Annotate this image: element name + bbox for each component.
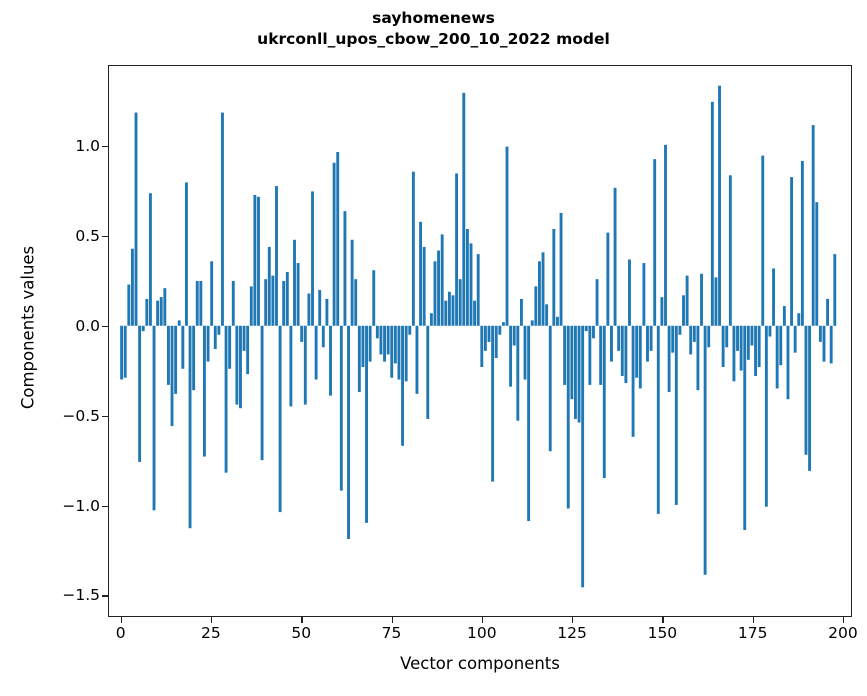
bar	[232, 281, 235, 326]
bar	[743, 326, 746, 530]
plot-area	[108, 65, 852, 617]
bar	[434, 261, 437, 325]
bar	[556, 317, 559, 326]
bar	[261, 326, 264, 460]
bar	[264, 279, 267, 326]
bar	[769, 326, 772, 337]
bar	[455, 173, 458, 325]
bar	[307, 294, 310, 326]
x-tick-mark	[572, 617, 573, 623]
bar	[459, 279, 462, 326]
bar	[477, 254, 480, 326]
x-tick-label: 25	[171, 624, 251, 642]
bar	[578, 326, 581, 423]
bar	[754, 326, 757, 376]
bar	[448, 292, 451, 326]
bar	[599, 326, 602, 385]
x-tick-mark	[753, 617, 754, 623]
bar	[153, 326, 156, 511]
bar-series	[109, 66, 851, 616]
bar	[214, 326, 217, 349]
bar	[419, 222, 422, 326]
bar	[653, 159, 656, 326]
bar	[466, 229, 469, 326]
bar	[210, 261, 213, 325]
bar	[823, 326, 826, 362]
bar	[163, 288, 166, 326]
bar	[470, 243, 473, 325]
bar	[135, 113, 138, 326]
bar	[574, 326, 577, 419]
bar	[502, 322, 505, 326]
x-tick-mark	[121, 617, 122, 623]
bar	[664, 145, 667, 326]
bar	[805, 326, 808, 455]
bar	[286, 272, 289, 326]
y-tick-mark	[102, 326, 108, 327]
bar	[480, 326, 483, 367]
bar	[642, 263, 645, 326]
bar	[171, 326, 174, 426]
bar	[246, 326, 249, 374]
y-tick-mark	[102, 506, 108, 507]
bar	[495, 326, 498, 358]
bar	[358, 326, 361, 392]
bar	[498, 326, 501, 335]
bar	[361, 326, 364, 367]
bar	[772, 268, 775, 325]
bar	[441, 234, 444, 325]
bar	[380, 326, 383, 355]
bar	[444, 301, 447, 326]
x-tick-mark	[843, 617, 844, 623]
bar	[473, 301, 476, 326]
bar	[189, 326, 192, 528]
y-tick-label: 0.0	[34, 317, 100, 335]
bar	[542, 252, 545, 325]
bar	[696, 326, 699, 390]
bar	[282, 281, 285, 326]
bar	[725, 326, 728, 348]
bar	[722, 326, 725, 367]
bar	[315, 326, 318, 380]
x-tick-mark	[392, 617, 393, 623]
bar	[311, 191, 314, 325]
bar	[174, 326, 177, 394]
bar	[333, 163, 336, 326]
bar	[779, 326, 782, 365]
bar	[711, 102, 714, 326]
bar	[610, 326, 613, 362]
bar	[797, 313, 800, 326]
bar	[354, 279, 357, 326]
bar	[668, 326, 671, 392]
bar	[830, 326, 833, 364]
bar	[621, 326, 624, 376]
bar	[812, 125, 815, 326]
bar	[387, 326, 390, 355]
y-tick-label: 1.0	[34, 137, 100, 155]
bar	[815, 202, 818, 326]
bar	[747, 326, 750, 360]
bar	[217, 326, 220, 335]
bar	[293, 240, 296, 326]
bar	[329, 326, 332, 396]
bar	[318, 290, 321, 326]
bar	[408, 326, 411, 335]
bar	[646, 326, 649, 362]
bar	[686, 276, 689, 326]
bar	[790, 177, 793, 326]
bar	[322, 326, 325, 348]
bar	[736, 326, 739, 351]
bar	[127, 285, 130, 326]
bar	[675, 326, 678, 505]
y-tick-label: −0.5	[34, 407, 100, 425]
bar	[297, 263, 300, 326]
bar	[253, 195, 256, 326]
bar	[401, 326, 404, 446]
bar	[430, 313, 433, 326]
bar	[794, 326, 797, 353]
bar	[365, 326, 368, 523]
chart-title: sayhomenews ukrconll_upos_cbow_200_10_20…	[0, 8, 867, 50]
bar	[833, 254, 836, 326]
bar	[506, 147, 509, 326]
bar	[801, 161, 804, 326]
y-tick-label: 0.5	[34, 227, 100, 245]
bar	[416, 326, 419, 394]
bar	[185, 182, 188, 325]
bar	[531, 320, 534, 325]
bar	[678, 326, 681, 335]
bar	[491, 326, 494, 482]
bar	[765, 326, 768, 507]
bar	[520, 299, 523, 326]
bar	[138, 326, 141, 462]
bar	[279, 326, 282, 512]
bar	[581, 326, 584, 588]
y-tick-label: −1.5	[34, 586, 100, 604]
bar	[221, 113, 224, 326]
x-tick-mark	[482, 617, 483, 623]
bar	[787, 326, 790, 399]
bar	[758, 326, 761, 367]
chart-title-line-2: ukrconll_upos_cbow_200_10_2022 model	[0, 29, 867, 50]
bar	[369, 326, 372, 362]
bar	[563, 326, 566, 385]
figure-canvas: sayhomenews ukrconll_upos_cbow_200_10_20…	[0, 0, 867, 696]
x-tick-mark	[301, 617, 302, 623]
bar	[714, 277, 717, 325]
bar	[534, 286, 537, 325]
bar	[513, 326, 516, 346]
bar	[635, 326, 638, 378]
bar	[405, 326, 408, 382]
chart-title-line-1: sayhomenews	[0, 8, 867, 29]
bar	[488, 326, 491, 342]
bar	[693, 326, 696, 342]
bar	[383, 326, 386, 362]
bar	[650, 326, 653, 351]
y-axis-tick-labels: 1.00.50.0−0.5−1.0−1.5	[30, 65, 100, 617]
bar	[275, 186, 278, 326]
bar	[394, 326, 397, 364]
bar	[560, 213, 563, 326]
bar	[289, 326, 292, 407]
bar	[751, 326, 754, 346]
bar	[549, 326, 552, 451]
bar	[156, 301, 159, 326]
bar	[196, 281, 199, 326]
bar	[740, 326, 743, 371]
y-tick-mark	[102, 236, 108, 237]
bar	[592, 326, 595, 339]
bar	[239, 326, 242, 408]
bar	[596, 279, 599, 326]
bar	[300, 326, 303, 342]
bar	[203, 326, 206, 457]
bar	[603, 326, 606, 478]
x-axis-tick-labels: 0255075100125150175200	[108, 624, 852, 648]
bar	[271, 276, 274, 326]
x-tick-label: 50	[261, 624, 341, 642]
bar	[347, 326, 350, 539]
bar	[340, 326, 343, 491]
bar	[142, 326, 145, 331]
bar	[628, 259, 631, 325]
bar	[437, 251, 440, 326]
bar	[657, 326, 660, 514]
x-tick-label: 175	[713, 624, 793, 642]
x-tick-mark	[662, 617, 663, 623]
bar	[412, 172, 415, 326]
x-tick-label: 150	[622, 624, 702, 642]
bar	[509, 326, 512, 387]
bar	[376, 326, 379, 339]
bar	[336, 152, 339, 326]
bar	[689, 326, 692, 355]
bar	[624, 326, 627, 383]
bar	[250, 286, 253, 325]
bar	[776, 326, 779, 389]
bar	[398, 326, 401, 380]
bar	[729, 175, 732, 325]
bar	[614, 188, 617, 326]
bar	[538, 261, 541, 325]
bar	[343, 211, 346, 326]
bar	[199, 281, 202, 326]
bar	[639, 326, 642, 389]
bar	[225, 326, 228, 473]
bar	[718, 86, 721, 326]
bar	[351, 240, 354, 326]
bar	[761, 156, 764, 326]
bar	[131, 249, 134, 326]
bar	[149, 193, 152, 326]
bar	[660, 297, 663, 326]
bar	[819, 326, 822, 342]
bar	[545, 304, 548, 326]
bar	[228, 326, 231, 369]
bar	[585, 326, 588, 331]
bar	[423, 247, 426, 326]
bar	[588, 326, 591, 385]
bar	[632, 326, 635, 437]
x-tick-label: 0	[81, 624, 161, 642]
bar	[484, 326, 487, 351]
bar	[426, 326, 429, 419]
bar	[524, 326, 527, 380]
bar	[178, 320, 181, 325]
bar	[516, 326, 519, 421]
y-tick-label: −1.0	[34, 497, 100, 515]
bar	[783, 306, 786, 326]
bar	[671, 326, 674, 353]
bar	[567, 326, 570, 509]
bar	[304, 326, 307, 405]
x-tick-mark	[211, 617, 212, 623]
bar	[700, 274, 703, 326]
bar	[732, 326, 735, 382]
y-tick-mark	[102, 416, 108, 417]
bar	[124, 326, 127, 378]
bar	[826, 299, 829, 326]
bar	[372, 270, 375, 326]
bar	[704, 326, 707, 575]
bar	[606, 233, 609, 326]
bar	[192, 326, 195, 390]
bar	[682, 295, 685, 325]
bar	[707, 326, 710, 348]
x-tick-label: 125	[532, 624, 612, 642]
bar	[181, 326, 184, 369]
bar	[527, 326, 530, 521]
bar	[617, 326, 620, 351]
bar	[243, 326, 246, 351]
x-tick-label: 100	[442, 624, 522, 642]
bar	[452, 295, 455, 325]
bar	[808, 326, 811, 471]
bar	[160, 297, 163, 326]
bar	[552, 229, 555, 326]
bar	[145, 299, 148, 326]
bar	[207, 326, 210, 362]
bar	[390, 326, 393, 378]
bar	[235, 326, 238, 405]
x-axis-label: Vector components	[108, 654, 852, 673]
bar	[268, 247, 271, 326]
bar	[120, 326, 123, 380]
bar	[462, 93, 465, 326]
y-axis-label: Components values	[19, 52, 38, 604]
bar	[257, 197, 260, 326]
x-tick-label: 200	[803, 624, 867, 642]
y-tick-mark	[102, 595, 108, 596]
y-tick-mark	[102, 146, 108, 147]
bar	[167, 326, 170, 385]
bar	[570, 326, 573, 399]
bar	[325, 299, 328, 326]
x-tick-label: 75	[352, 624, 432, 642]
